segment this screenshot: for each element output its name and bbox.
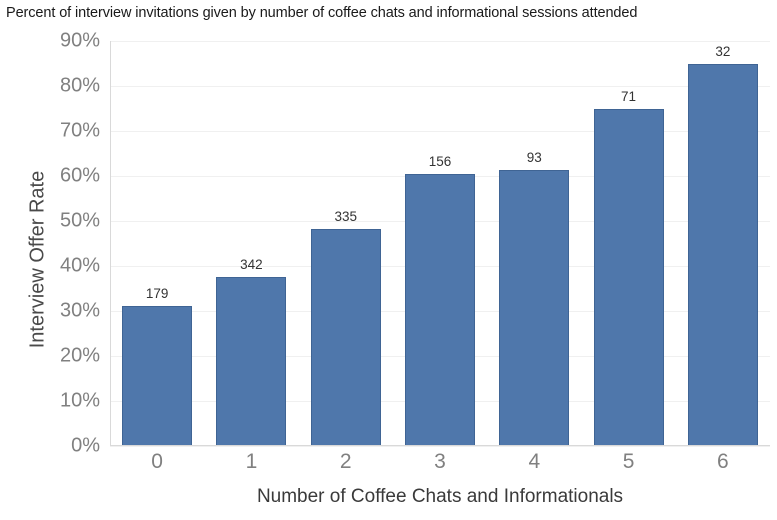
y-tick-label: 0% (30, 435, 100, 458)
bar-group[interactable]: 32 (688, 41, 758, 446)
x-axis-line (110, 445, 770, 446)
y-axis-line (110, 41, 111, 446)
bar-group[interactable]: 179 (122, 41, 192, 446)
y-tick-label: 70% (30, 120, 100, 143)
bar-chart: Percent of interview invitations given b… (0, 0, 777, 520)
bar-value-label: 156 (405, 154, 475, 169)
bar-group[interactable]: 342 (216, 41, 286, 446)
bar-value-label: 335 (311, 209, 381, 224)
x-tick-label: 5 (581, 450, 675, 474)
bar[interactable] (499, 170, 569, 446)
chart-title: Percent of interview invitations given b… (6, 4, 774, 22)
x-axis-title: Number of Coffee Chats and Informational… (110, 486, 770, 508)
bar[interactable] (688, 64, 758, 446)
bar-group[interactable]: 71 (594, 41, 664, 446)
bar-value-label: 342 (216, 257, 286, 272)
x-tick-label: 3 (393, 450, 487, 474)
y-tick-label: 80% (30, 75, 100, 98)
bar[interactable] (405, 174, 475, 446)
x-tick-label: 0 (110, 450, 204, 474)
x-tick-label: 4 (487, 450, 581, 474)
y-axis-tick-labels: 0%10%20%30%40%50%60%70%80%90% (30, 41, 100, 446)
bar-value-label: 32 (688, 44, 758, 59)
bar[interactable] (594, 109, 664, 446)
x-tick-label: 6 (676, 450, 770, 474)
x-tick-label: 1 (204, 450, 298, 474)
gridline (110, 446, 770, 447)
bar-value-label: 179 (122, 286, 192, 301)
bar-value-label: 71 (594, 89, 664, 104)
y-tick-label: 30% (30, 300, 100, 323)
bar[interactable] (311, 229, 381, 446)
plot-area: 179342335156937132 (110, 41, 770, 446)
y-tick-label: 50% (30, 210, 100, 233)
y-tick-label: 40% (30, 255, 100, 278)
y-tick-label: 60% (30, 165, 100, 188)
bar-group[interactable]: 156 (405, 41, 475, 446)
bar-group[interactable]: 335 (311, 41, 381, 446)
y-tick-label: 20% (30, 345, 100, 368)
x-tick-label: 2 (299, 450, 393, 474)
bar-group[interactable]: 93 (499, 41, 569, 446)
x-axis-tick-labels: 0123456 (110, 450, 770, 484)
bar-value-label: 93 (499, 150, 569, 165)
bar[interactable] (216, 277, 286, 446)
y-tick-label: 90% (30, 30, 100, 53)
y-tick-label: 10% (30, 390, 100, 413)
bar[interactable] (122, 306, 192, 446)
